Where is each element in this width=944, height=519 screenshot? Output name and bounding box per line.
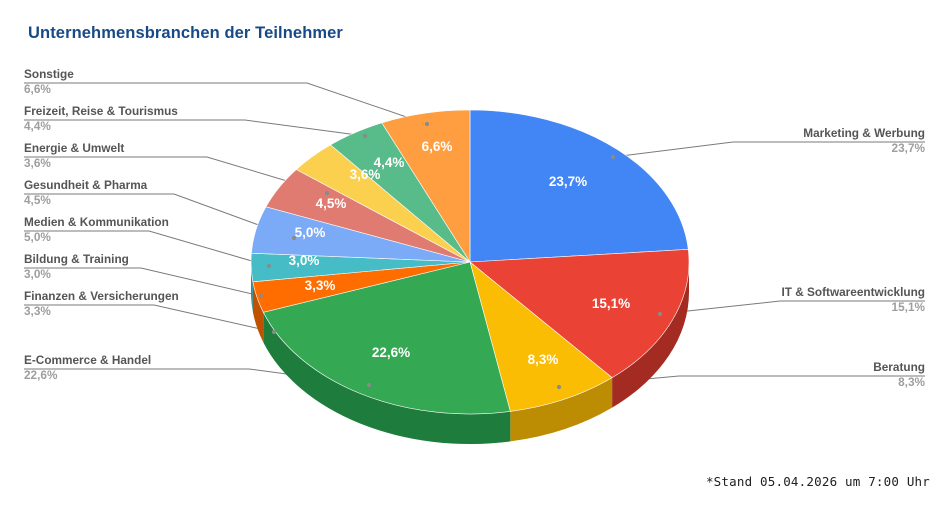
pie-callout-value: 3,3% (24, 304, 179, 319)
pie-anchor-dot (292, 236, 296, 240)
pie-callout: Sonstige6,6% (24, 67, 74, 97)
pie-slice-value-label: 3,0% (289, 253, 320, 268)
pie-callout-category: Medien & Kommunikation (24, 215, 169, 230)
pie-anchor-dot (272, 330, 276, 334)
pie-callout-category: Finanzen & Versicherungen (24, 289, 179, 304)
pie-callout-value: 5,0% (24, 230, 169, 245)
pie-anchor-dot (267, 264, 271, 268)
pie-anchor-dot (325, 191, 329, 195)
pie-callout: Medien & Kommunikation5,0% (24, 215, 169, 245)
pie-callout-category: Freizeit, Reise & Tourismus (24, 104, 178, 119)
pie-callout-category: E-Commerce & Handel (24, 353, 151, 368)
pie-callout-value: 6,6% (24, 82, 74, 97)
pie-callout: Freizeit, Reise & Tourismus4,4% (24, 104, 178, 134)
pie-callout-category: Bildung & Training (24, 252, 129, 267)
pie-slice-value-label: 22,6% (372, 345, 410, 360)
pie-callout-category: Sonstige (24, 67, 74, 82)
pie-callout: Bildung & Training3,0% (24, 252, 129, 282)
pie-callout-value: 3,6% (24, 156, 124, 171)
pie-callout-category: Energie & Umwelt (24, 141, 124, 156)
pie-slice-value-label: 4,4% (374, 155, 405, 170)
pie-callout-value: 4,4% (24, 119, 178, 134)
pie-slice-value-label: 4,5% (316, 196, 347, 211)
pie-callout: Energie & Umwelt3,6% (24, 141, 124, 171)
pie-callout-category: Gesundheit & Pharma (24, 178, 147, 193)
pie-callout-value: 23,7% (0, 141, 925, 156)
pie-callout-value: 4,5% (24, 193, 147, 208)
pie-slice-value-label: 5,0% (295, 225, 326, 240)
footnote-timestamp: *Stand 05.04.2026 um 7:00 Uhr (706, 474, 930, 489)
pie-slice-value-label: 23,7% (549, 174, 587, 189)
pie-callout-value: 3,0% (24, 267, 129, 282)
pie-callout-value: 22,6% (24, 368, 151, 383)
chart-page: Unternehmensbranchen der Teilnehmer 23,7… (0, 0, 944, 519)
pie-callout: E-Commerce & Handel22,6% (24, 353, 151, 383)
pie-chart: 23,7%15,1%8,3%22,6%3,3%3,0%5,0%4,5%3,6%4… (0, 0, 944, 519)
pie-callout: Finanzen & Versicherungen3,3% (24, 289, 179, 319)
pie-callout: Gesundheit & Pharma4,5% (24, 178, 147, 208)
